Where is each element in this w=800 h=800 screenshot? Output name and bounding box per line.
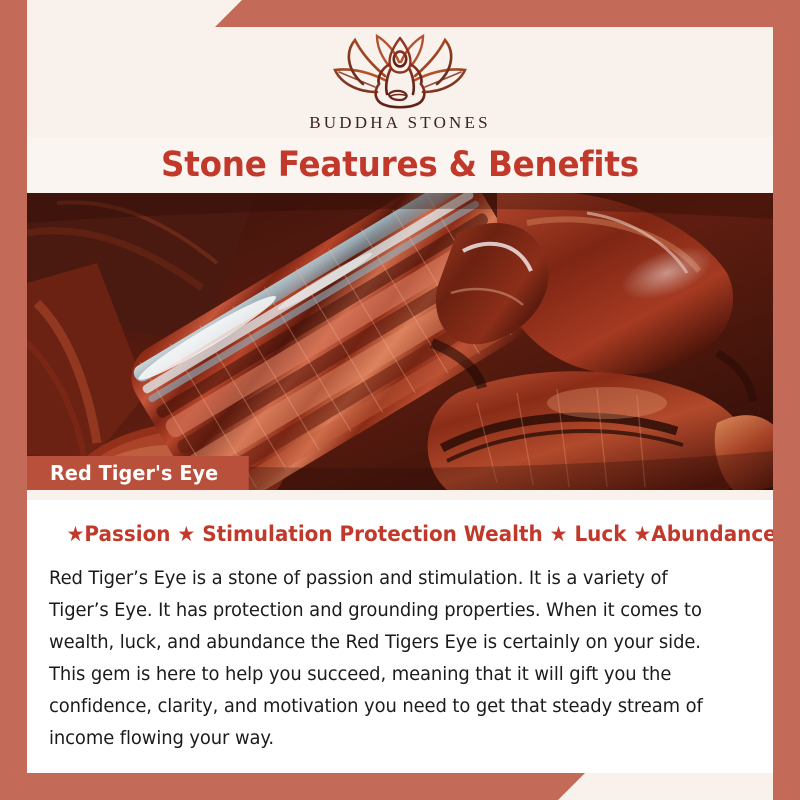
stone-description: Red Tiger’s Eye is a stone of passion an…	[49, 563, 726, 755]
feature-keywords: ★Passion ★ Stimulation Protection Wealth…	[67, 522, 734, 546]
decorative-band-top	[215, 0, 800, 27]
poster-root: BUDDHA STONES Stone Features & Benefits	[0, 0, 800, 800]
decorative-band-bottom	[0, 773, 585, 800]
lotus-meditation-icon	[325, 32, 475, 112]
stone-name-badge: Red Tiger's Eye	[27, 456, 249, 490]
brand-header: BUDDHA STONES	[27, 27, 773, 137]
brand-name: BUDDHA STONES	[309, 113, 491, 133]
title-bar: Stone Features & Benefits	[27, 137, 773, 193]
decorative-band-right	[773, 0, 800, 800]
content-panel: ★Passion ★ Stimulation Protection Wealth…	[27, 490, 773, 773]
decorative-band-left	[0, 0, 27, 800]
poster-inner: BUDDHA STONES Stone Features & Benefits	[27, 27, 773, 773]
content-top-strip	[27, 490, 773, 500]
stone-photo: Red Tiger's Eye	[27, 193, 773, 490]
page-title: Stone Features & Benefits	[161, 145, 639, 185]
